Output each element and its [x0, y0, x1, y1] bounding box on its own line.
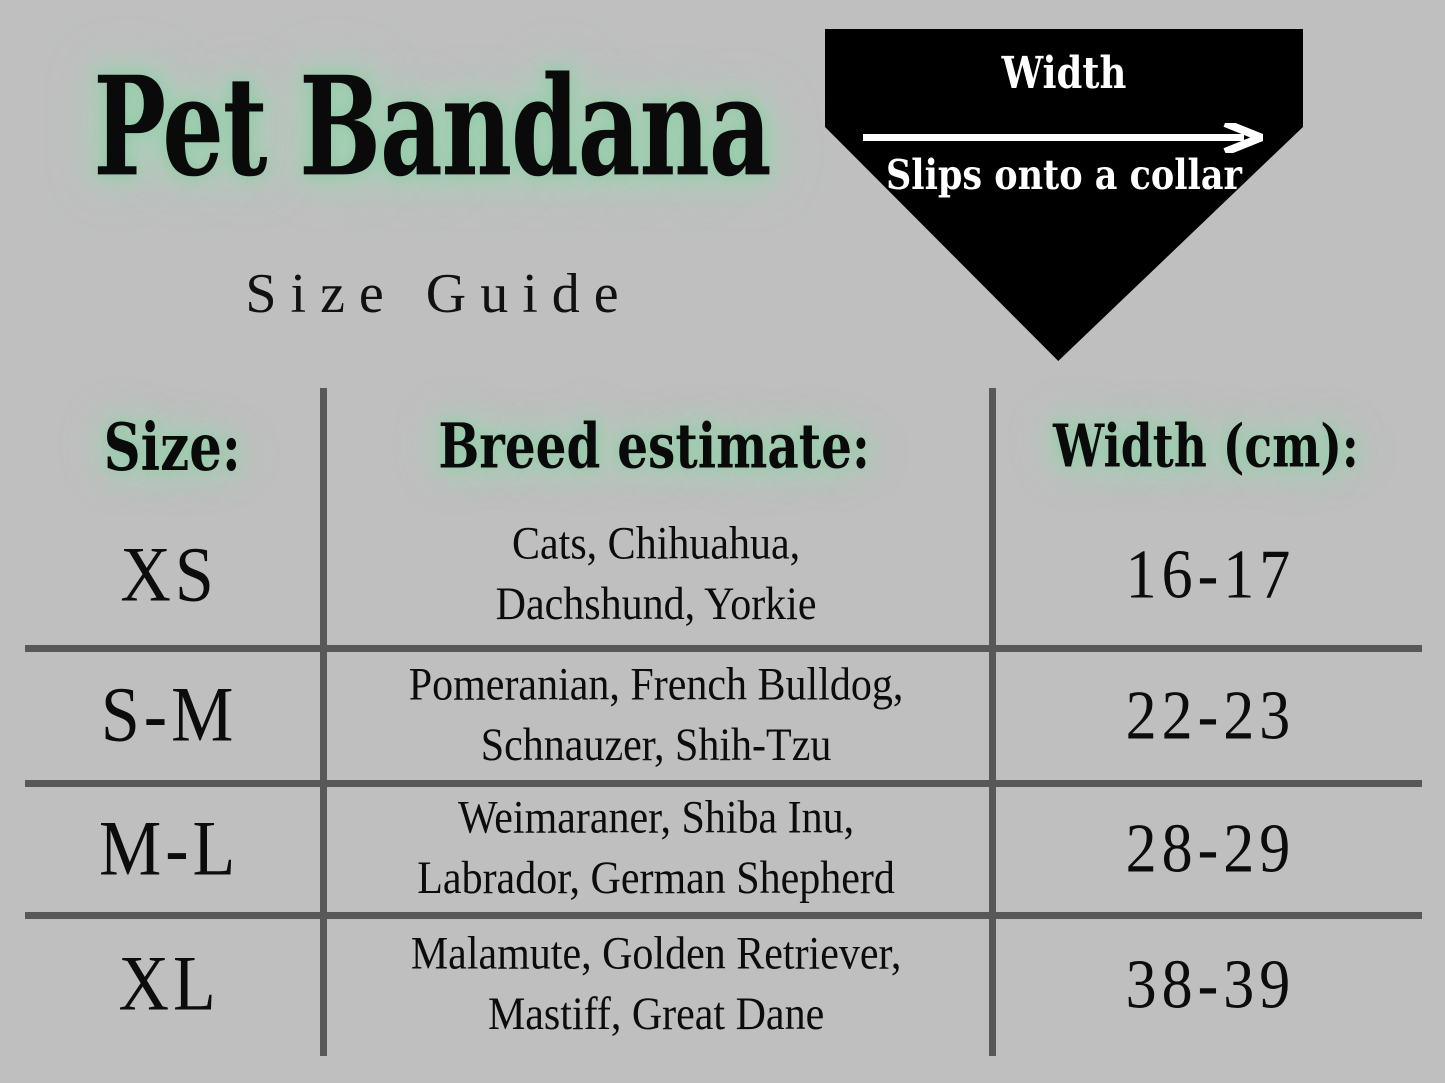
cell-breed-line: Schnauzer, Shih-Tzu [409, 716, 904, 777]
cell-width: 22-23 [999, 676, 1422, 756]
cell-size: XS [25, 531, 313, 621]
page-title: Pet Bandana [77, 56, 787, 199]
bandana-collar-label: Slips onto a collar [825, 151, 1303, 199]
cell-breed-line: Pomeranian, French Bulldog, [409, 655, 904, 716]
column-header-size: Size: [25, 388, 320, 506]
title-block: Pet Bandana Size Guide [62, 56, 802, 326]
cell-width: 28-29 [999, 810, 1422, 890]
table-row: XL Malamute, Golden Retriever, Mastiff, … [25, 919, 1422, 1051]
cell-width: 38-39 [999, 945, 1422, 1025]
cell-breed-line: Weimaraner, Shiba Inu, [417, 789, 895, 850]
table-header-row: Size: Breed estimate: Width (cm): [25, 388, 1422, 506]
cell-breed: Weimaraner, Shiba Inu, Labrador, German … [313, 789, 999, 911]
cell-breed: Pomeranian, French Bulldog, Schnauzer, S… [313, 655, 999, 777]
cell-breed-line: Mastiff, Great Dane [411, 985, 902, 1046]
column-header-size-label: Size: [104, 408, 241, 486]
column-header-width: Width (cm): [989, 388, 1422, 506]
cell-size: S-M [25, 671, 313, 761]
bandana-diagram: Width Slips onto a collar [825, 29, 1303, 361]
cell-breed-line: Malamute, Golden Retriever, [411, 924, 902, 985]
cell-size: M-L [25, 805, 313, 895]
cell-width: 16-17 [999, 536, 1422, 616]
cell-breed-line: Labrador, German Shepherd [417, 850, 895, 911]
table-horizontal-divider-3 [25, 912, 1422, 919]
table-row: M-L Weimaraner, Shiba Inu, Labrador, Ger… [25, 787, 1422, 912]
cell-breed: Malamute, Golden Retriever, Mastiff, Gre… [313, 924, 999, 1046]
page-subtitle: Size Guide [62, 262, 802, 326]
cell-breed-line: Cats, Chihuahua, [496, 515, 817, 576]
column-header-breed: Breed estimate: [320, 388, 989, 506]
table-row: XS Cats, Chihuahua, Dachshund, Yorkie 16… [25, 506, 1422, 645]
cell-breed: Cats, Chihuahua, Dachshund, Yorkie [313, 515, 999, 637]
table-horizontal-divider-2 [25, 780, 1422, 787]
table-row: S-M Pomeranian, French Bulldog, Schnauze… [25, 652, 1422, 780]
cell-size: XL [25, 940, 313, 1030]
table-horizontal-divider-1 [25, 645, 1422, 652]
bandana-width-label: Width [825, 46, 1303, 99]
column-header-breed-label: Breed estimate: [439, 410, 871, 483]
column-header-width-label: Width (cm): [1053, 413, 1359, 481]
size-table: Size: Breed estimate: Width (cm): XS Cat… [25, 388, 1422, 1056]
right-arrow-icon [863, 123, 1263, 153]
pet-bandana-size-guide-poster: Pet Bandana Size Guide Width Slips onto … [0, 0, 1445, 1083]
cell-breed-line: Dachshund, Yorkie [496, 576, 817, 637]
